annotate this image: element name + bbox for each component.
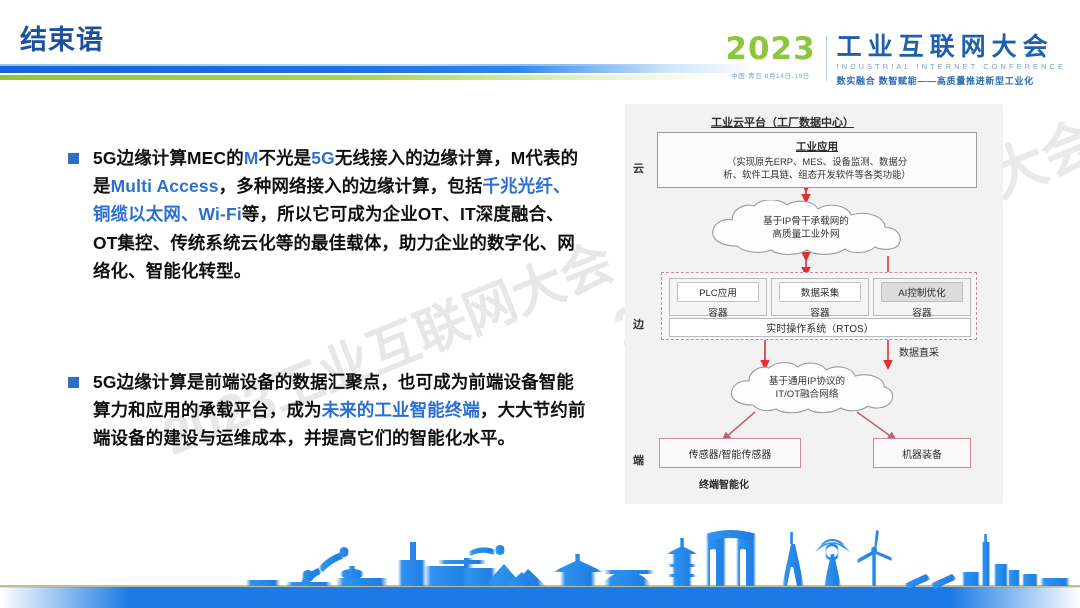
terminal-sensor-box: 传感器/智能传感器 <box>659 438 801 468</box>
app-box-line2: 析、软件工具链、组态开发软件等各类功能） <box>723 169 911 182</box>
divider-blue-highlight <box>0 64 700 66</box>
skyline-graphic <box>0 530 1080 608</box>
page-title: 结束语 <box>20 18 104 57</box>
cloud-wan-line1: 基于IP骨干承载网的 <box>763 216 849 229</box>
cloud-itot-line2: IT/OT融合网络 <box>776 389 839 402</box>
cloud-ip-backbone: 基于IP骨干承载网的 高质量工业外网 <box>699 200 913 258</box>
layer-label-terminal: 端 <box>633 452 644 468</box>
app-box-title: 工业应用 <box>796 139 838 154</box>
cloud-itot-text: 基于通用IP协议的 IT/OT融合网络 <box>721 362 893 416</box>
logo-conference-name-cn: 工业互联网大会 <box>837 34 1066 60</box>
text-segment-2: 不光是 <box>259 148 312 168</box>
logo-slogan: 数实融合 数智赋能——高质量推进新型工业化 <box>837 74 1066 87</box>
direct-collect-label: 数据直采 <box>899 344 939 359</box>
container-ai-control: AI控制优化 容器 <box>873 278 971 316</box>
bullet-square-icon <box>68 153 79 164</box>
rtos-box: 实时操作系统（RTOS） <box>669 318 971 337</box>
architecture-diagram: 云 边 端 工业云平台（工厂数据中心） 工业应用 （实现原先ERP、MES、设备… <box>625 104 1003 504</box>
bullet-square-icon <box>68 377 79 388</box>
cloud-wan-line2: 高质量工业外网 <box>772 229 839 242</box>
terminal-machine-box: 机器装备 <box>873 438 971 468</box>
cloud-ip-backbone-text: 基于IP骨干承载网的 高质量工业外网 <box>699 200 913 258</box>
industrial-application-box: 工业应用 （实现原先ERP、MES、设备监测、数据分 析、软件工具链、组态开发软… <box>657 132 977 188</box>
container-plc-title: PLC应用 <box>677 282 760 302</box>
bullet-item: 5G边缘计算MEC的M不光是5G无线接入的边缘计算，M代表的是Multi Acc… <box>68 144 588 285</box>
text-segment-0: 5G边缘计算MEC的 <box>93 148 244 168</box>
container-plc-sub: 容器 <box>708 305 727 319</box>
logo-year: 2023 <box>725 34 815 65</box>
container-data-collect: 数据采集 容器 <box>771 278 869 316</box>
text-segment-5: Multi Access <box>111 176 219 196</box>
cloud-itot-network: 基于通用IP协议的 IT/OT融合网络 <box>721 362 893 416</box>
bottom-caption: 终端智能化 <box>699 476 749 491</box>
divider-green-bar <box>0 75 720 80</box>
text-segment-1: M <box>244 148 259 168</box>
text-segment-3: 5G <box>311 148 335 168</box>
container-data-collect-sub: 容器 <box>810 305 829 319</box>
logo-date: 中国·青岛 8月14日-19日 <box>731 70 810 80</box>
logo-conference-name-en: INDUSTRIAL INTERNET CONFERENCE <box>837 62 1066 71</box>
container-data-collect-title: 数据采集 <box>779 282 862 302</box>
bullet-item: 5G边缘计算是前端设备的数据汇聚点，也可成为前端设备智能算力和应用的承载平台，成… <box>68 368 588 453</box>
bullet-text: 5G边缘计算是前端设备的数据汇聚点，也可成为前端设备智能算力和应用的承载平台，成… <box>93 368 588 453</box>
platform-title: 工业云平台（工厂数据中心） <box>711 114 854 130</box>
container-ai-control-title: AI控制优化 <box>881 282 964 302</box>
logo-text-block: 工业互联网大会 INDUSTRIAL INTERNET CONFERENCE 数… <box>827 34 1066 87</box>
app-box-line1: （实现原先ERP、MES、设备监测、数据分 <box>727 156 907 169</box>
layer-label-cloud: 云 <box>633 160 644 176</box>
container-ai-control-sub: 容器 <box>912 305 931 319</box>
bullet-text: 5G边缘计算MEC的M不光是5G无线接入的边缘计算，M代表的是Multi Acc… <box>93 144 588 285</box>
footer-skyline <box>0 530 1080 608</box>
layer-label-edge: 边 <box>633 316 644 332</box>
cloud-itot-line1: 基于通用IP协议的 <box>769 376 845 389</box>
slide-header: 结束语 2023 中国·青岛 8月14日-19日 工业互联网大会 INDUSTR… <box>0 0 1080 92</box>
conference-logo: 2023 中国·青岛 8月14日-19日 工业互联网大会 INDUSTRIAL … <box>725 34 1066 87</box>
logo-year-block: 2023 中国·青岛 8月14日-19日 <box>725 34 825 80</box>
text-segment-6: ，多种网络接入的边缘计算，包括 <box>219 176 483 196</box>
text-segment-1: 未来的工业智能终端 <box>322 400 480 420</box>
container-plc: PLC应用 容器 <box>669 278 767 316</box>
